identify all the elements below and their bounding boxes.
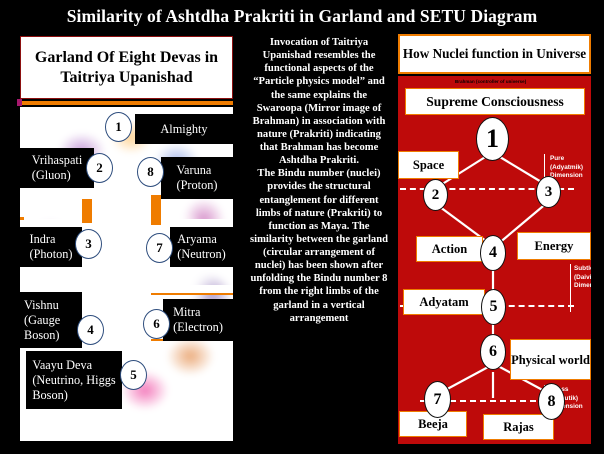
garland-node-4[interactable]: 4 xyxy=(77,315,104,345)
garland-label-4: Vishnu (Gauge Boson) xyxy=(20,292,82,348)
dimension-label-subtle: Subtle (Daivik) Dimension xyxy=(574,265,591,291)
setu-heading: How Nuclei function in Universe xyxy=(398,34,591,74)
explanation-panel: Invocation of Taitriya Upanishad resembl… xyxy=(245,32,393,448)
garland-panel: Garland Of Eight Devas in Taitriya Upani… xyxy=(6,32,239,448)
setu-node-6[interactable]: 6 xyxy=(480,334,506,370)
setu-node-8[interactable]: 8 xyxy=(538,383,565,420)
accent-edge xyxy=(20,217,24,220)
setu-node-7[interactable]: 7 xyxy=(424,381,451,418)
setu-node-1[interactable]: 1 xyxy=(476,117,509,161)
strip-bottom xyxy=(20,425,233,441)
garland-label-5: Vaayu Deva (Neutrino, Higgs Boson) xyxy=(26,351,122,409)
setu-panel: How Nuclei function in Universe Brahman … xyxy=(396,32,598,448)
garland-node-6[interactable]: 6 xyxy=(143,309,170,339)
box-action[interactable]: Action xyxy=(416,236,483,262)
setu-diagram: Brahman (controller of universe) xyxy=(398,76,591,444)
garland-node-7[interactable]: 7 xyxy=(146,233,173,263)
garland-heading: Garland Of Eight Devas in Taitriya Upani… xyxy=(20,36,233,99)
garland-node-2[interactable]: 2 xyxy=(86,153,113,183)
box-energy[interactable]: Energy xyxy=(517,232,591,260)
accent-right-mid xyxy=(151,293,233,295)
box-supreme-consciousness[interactable]: Supreme Consciousness xyxy=(405,88,585,115)
garland-node-1[interactable]: 1 xyxy=(105,112,132,142)
garland-accent-bar xyxy=(20,101,233,105)
page-title: Similarity of Ashtdha Prakriti in Garlan… xyxy=(0,3,604,29)
garland-label-6: Mitra (Electron) xyxy=(163,299,233,341)
setu-node-3[interactable]: 3 xyxy=(536,176,561,208)
dimension-label-pure: Pure (Adyatmik) Dimension xyxy=(550,155,583,181)
garland-label-3: Indra (Photon) xyxy=(20,227,82,267)
box-adyatam[interactable]: Adyatam xyxy=(403,289,485,315)
garland-label-1: Almighty xyxy=(135,114,233,144)
garland-label-2: Vrihaspati (Gluon) xyxy=(20,148,94,188)
box-physical-world[interactable]: Physical world xyxy=(510,339,591,380)
setu-node-4[interactable]: 4 xyxy=(480,235,506,271)
accent-right-upper xyxy=(151,195,161,225)
setu-node-5[interactable]: 5 xyxy=(481,289,506,325)
dim-bar-subtle xyxy=(570,264,571,312)
accent-left-upper xyxy=(82,199,92,223)
setu-node-2[interactable]: 2 xyxy=(423,179,448,211)
garland-node-8[interactable]: 8 xyxy=(137,157,164,187)
garland-label-8: Varuna (Proton) xyxy=(161,157,233,199)
garland-diagram: Almighty 1 Vrihaspati (Gluon) 2 Varuna (… xyxy=(20,107,233,441)
poster-root: Similarity of Ashtdha Prakriti in Garlan… xyxy=(0,0,604,454)
garland-node-3[interactable]: 3 xyxy=(75,229,102,259)
explanation-text: Invocation of Taitriya Upanishad resembl… xyxy=(248,36,390,325)
box-rajas[interactable]: Rajas xyxy=(483,414,554,440)
garland-label-7: Aryama (Neutron) xyxy=(170,227,233,267)
garland-node-5[interactable]: 5 xyxy=(120,360,147,390)
box-space[interactable]: Space xyxy=(398,151,459,179)
